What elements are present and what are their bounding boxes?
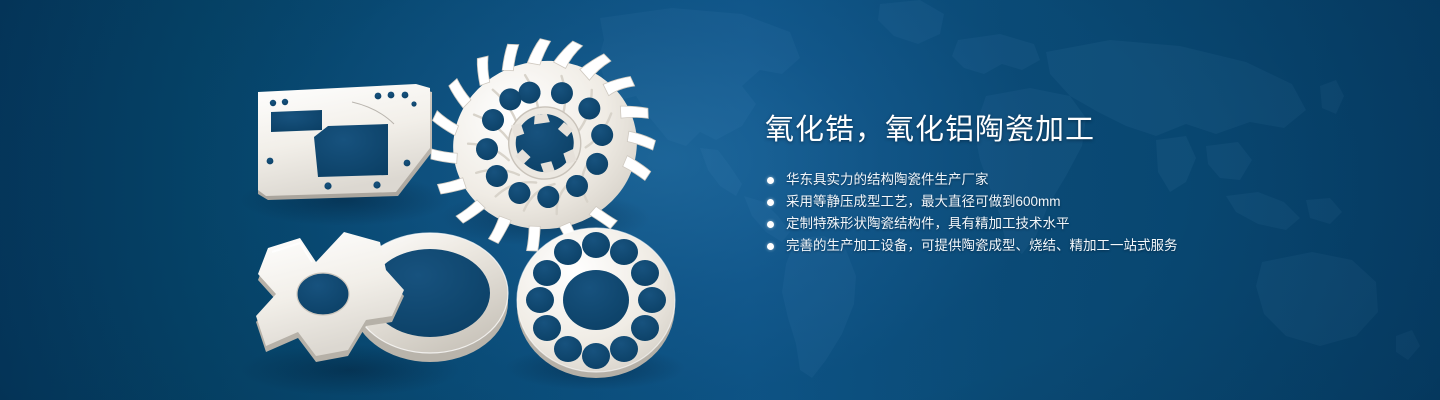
- list-item: 完善的生产加工设备，可提供陶瓷成型、烧结、精加工一站式服务: [765, 238, 1405, 254]
- list-item-label: 华东具实力的结构陶瓷件生产厂家: [786, 172, 989, 187]
- list-item-label: 完善的生产加工设备，可提供陶瓷成型、烧结、精加工一站式服务: [786, 238, 1178, 253]
- ceramic-machined-plate: [258, 84, 432, 200]
- ceramic-parts-illustration: [0, 0, 760, 400]
- list-item: 采用等静压成型工艺，最大直径可做到600mm: [765, 194, 1405, 210]
- list-item: 定制特殊形状陶瓷结构件，具有精加工技术水平: [765, 216, 1405, 232]
- hero-copy: 氧化锆，氧化铝陶瓷加工 华东具实力的结构陶瓷件生产厂家 采用等静压成型工艺，最大…: [765, 110, 1405, 260]
- ceramic-holed-disc: [517, 228, 675, 378]
- bullet-dot-icon: [767, 177, 774, 184]
- feature-list: 华东具实力的结构陶瓷件生产厂家 采用等静压成型工艺，最大直径可做到600mm 定…: [765, 172, 1405, 254]
- bullet-dot-icon: [767, 221, 774, 228]
- list-item-label: 采用等静压成型工艺，最大直径可做到600mm: [786, 194, 1061, 209]
- page-title: 氧化锆，氧化铝陶瓷加工: [765, 110, 1405, 150]
- bullet-dot-icon: [767, 243, 774, 250]
- hero-banner: 氧化锆，氧化铝陶瓷加工 华东具实力的结构陶瓷件生产厂家 采用等静压成型工艺，最大…: [0, 0, 1440, 400]
- list-item-label: 定制特殊形状陶瓷结构件，具有精加工技术水平: [786, 216, 1070, 231]
- list-item: 华东具实力的结构陶瓷件生产厂家: [765, 172, 1405, 188]
- bullet-dot-icon: [767, 199, 774, 206]
- product-image-group: [0, 0, 760, 400]
